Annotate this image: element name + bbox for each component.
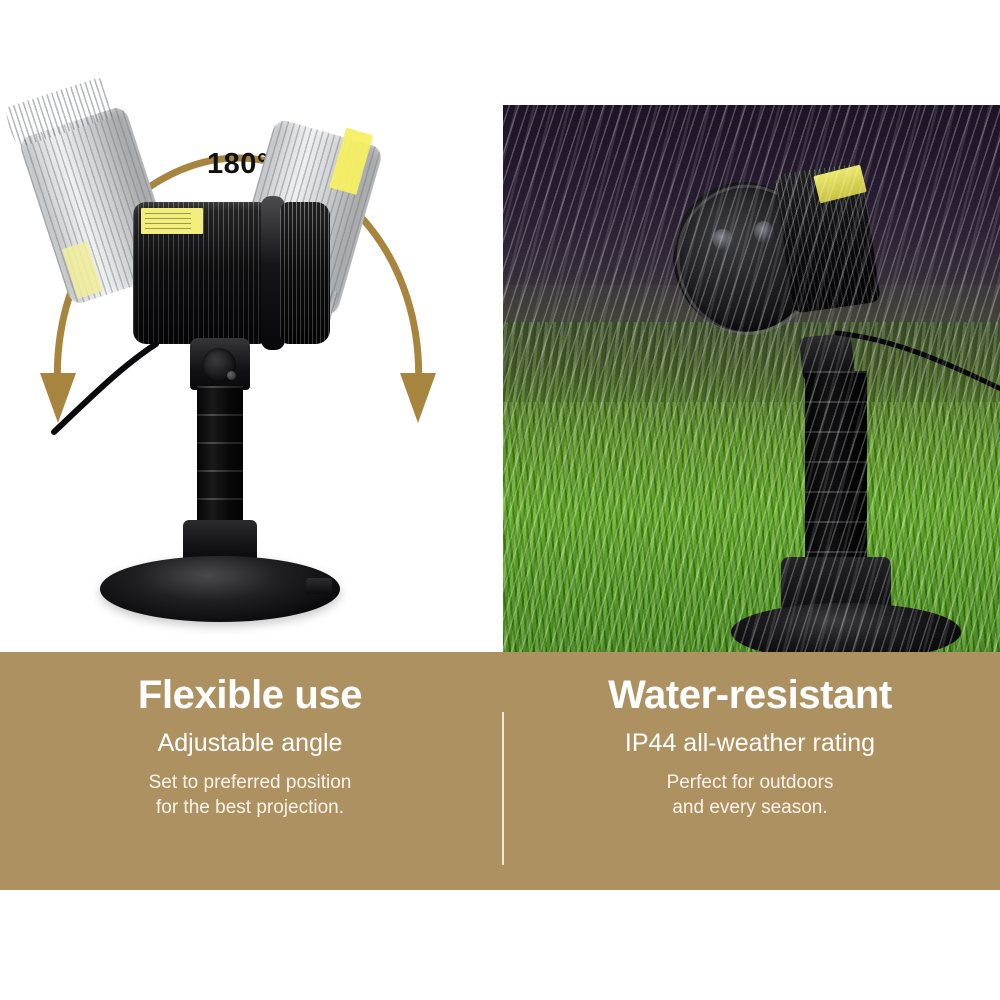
feature-subtitle: IP44 all-weather rating — [625, 730, 875, 758]
feature-title: Flexible use — [138, 674, 362, 716]
product-infographic: 180° — [0, 0, 1000, 1000]
power-cable — [30, 340, 160, 436]
feature-description-line1: Perfect for outdoors — [667, 770, 834, 796]
rain-streaks-back — [503, 105, 1000, 652]
feature-title: Water-resistant — [608, 674, 892, 716]
pivot-screw-icon — [227, 371, 236, 380]
base-tab — [306, 578, 332, 594]
feature-description-line2: and every season. — [667, 795, 834, 821]
pivot-bracket — [190, 338, 250, 390]
feature-subtitle: Adjustable angle — [158, 730, 343, 758]
feature-divider — [502, 712, 504, 865]
feature-description: Set to preferred position for the best p… — [149, 770, 352, 821]
feature-column-water-resistant: Water-resistant IP44 all-weather rating … — [500, 652, 1000, 890]
product-label-sticker — [141, 208, 203, 234]
projector-base — [100, 556, 340, 622]
arrow-down-right-icon — [400, 373, 436, 423]
projector-end-cap — [280, 202, 330, 344]
feature-column-flexible-use: Flexible use Adjustable angle Set to pre… — [0, 652, 500, 890]
flexible-use-diagram-panel: 180° — [0, 0, 500, 652]
water-resistant-photo-panel — [503, 105, 1000, 652]
projector-stem — [197, 386, 243, 526]
feature-description: Perfect for outdoors and every season. — [667, 770, 834, 821]
feature-band: Flexible use Adjustable angle Set to pre… — [0, 652, 1000, 890]
bottom-whitespace — [0, 890, 1000, 1000]
feature-description-line1: Set to preferred position — [149, 770, 352, 796]
pivot-hub — [202, 348, 236, 382]
projector-head — [133, 196, 330, 348]
feature-description-line2: for the best projection. — [149, 795, 352, 821]
